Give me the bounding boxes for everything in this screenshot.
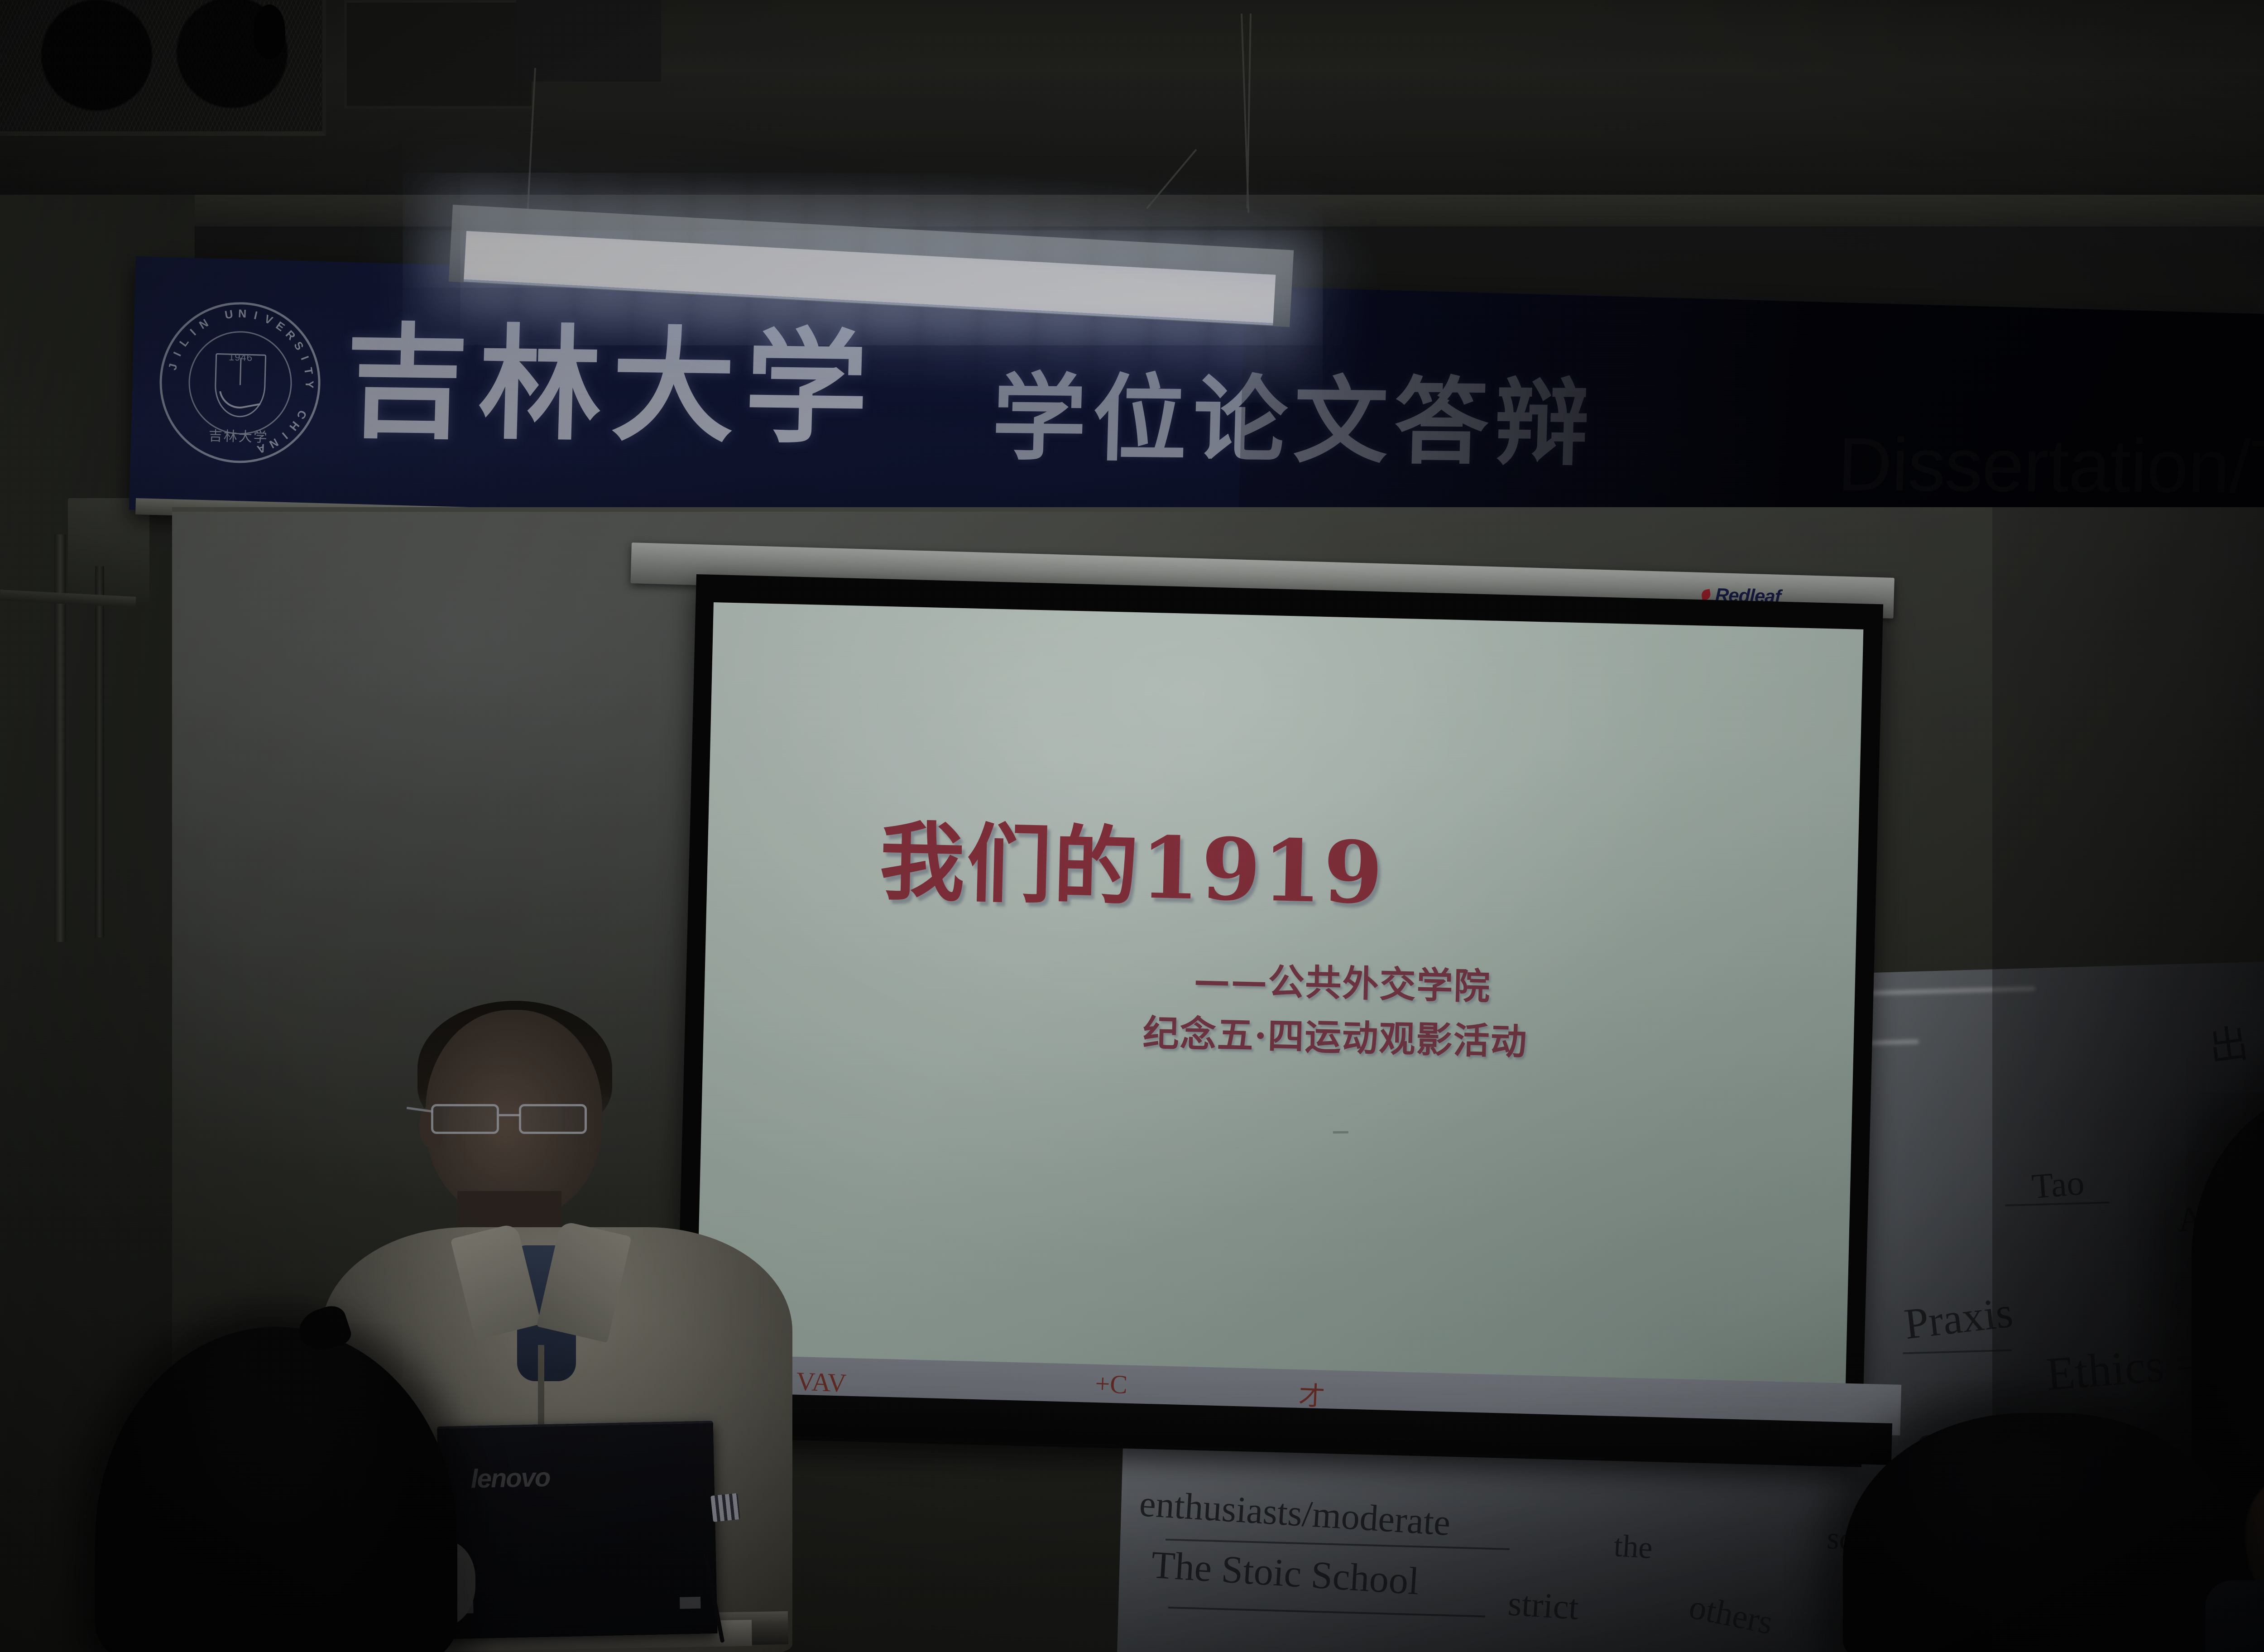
vent-knob	[254, 5, 285, 59]
seal-arc-char: N	[197, 316, 211, 332]
seal-arc-char: I	[297, 354, 311, 362]
seal-arc-char: N	[238, 307, 247, 321]
seal-chinese-text: 吉林大学	[208, 425, 269, 447]
seal-arc-char: R	[283, 328, 298, 343]
jilin-university-seal-icon: 1946 JILIN UNIVERSITYCHINA 吉林大学	[158, 300, 322, 465]
glasses-lens-left	[431, 1104, 499, 1134]
seal-arc-char: I	[171, 350, 184, 358]
seal-arc-char: Y	[302, 380, 315, 389]
laptop[interactable]: lenovo	[437, 1421, 718, 1639]
banner-university-name: 吉林大学	[344, 321, 879, 451]
whiteboard-note: the	[1613, 1530, 1654, 1564]
laptop-lid-foot	[680, 1597, 701, 1609]
seal-arc-char: I	[187, 326, 199, 338]
slide-subtitle-department: ——公共外交学院	[1193, 958, 1491, 1009]
seal-arc-char	[212, 311, 220, 325]
seal-arc-char: V	[262, 312, 275, 327]
seal-arc-char: I	[252, 309, 259, 322]
seal-arc-char: U	[224, 307, 234, 322]
ceiling-panel	[344, 0, 534, 109]
seal-arc-char: S	[291, 339, 306, 353]
glasses-temple	[407, 1107, 433, 1113]
red-leaf-icon	[1701, 589, 1712, 600]
screen-dust-speck	[1333, 1131, 1348, 1133]
whiteboard-note: strict	[1507, 1585, 1580, 1625]
slide-title: 我们的1919	[878, 819, 1385, 916]
whiteboard-lower: enthusiasts/moderateThe Stoic Schoolstri…	[1117, 1445, 1938, 1652]
wall-pipe-secondary	[95, 566, 104, 937]
seal-arc-char: J	[166, 362, 180, 371]
lenovo-logo-text: lenovo	[470, 1465, 550, 1493]
usb-plug	[710, 1493, 740, 1522]
seal-arc-char: T	[301, 366, 315, 376]
red-marker-note: +C	[1094, 1370, 1128, 1398]
glasses-bridge	[499, 1114, 520, 1116]
slide-subtitle-event: 纪念五·四运动观影活动	[1142, 1011, 1528, 1065]
air-conditioner-vent	[0, 0, 326, 136]
projected-slide: 我们的1919 ——公共外交学院 纪念五·四运动观影活动	[695, 602, 1864, 1426]
seal-arc-char: L	[177, 335, 192, 349]
glasses-lens-right	[519, 1104, 587, 1134]
red-marker-note: 才	[1298, 1383, 1325, 1410]
right-wall-shadow	[1992, 507, 2264, 1652]
seal-arc-char: I	[278, 429, 290, 442]
seal-arc-char: H	[286, 418, 302, 433]
ceiling-panel-secondary	[516, 0, 661, 82]
red-marker-note: VAV	[796, 1368, 847, 1397]
photo-scene: 1946 JILIN UNIVERSITYCHINA 吉林大学 吉林大学 学位论…	[0, 0, 2264, 1652]
eyeglasses-icon	[428, 1104, 601, 1137]
seal-arc-char: E	[273, 319, 287, 334]
seal-arc-char: C	[293, 408, 309, 421]
